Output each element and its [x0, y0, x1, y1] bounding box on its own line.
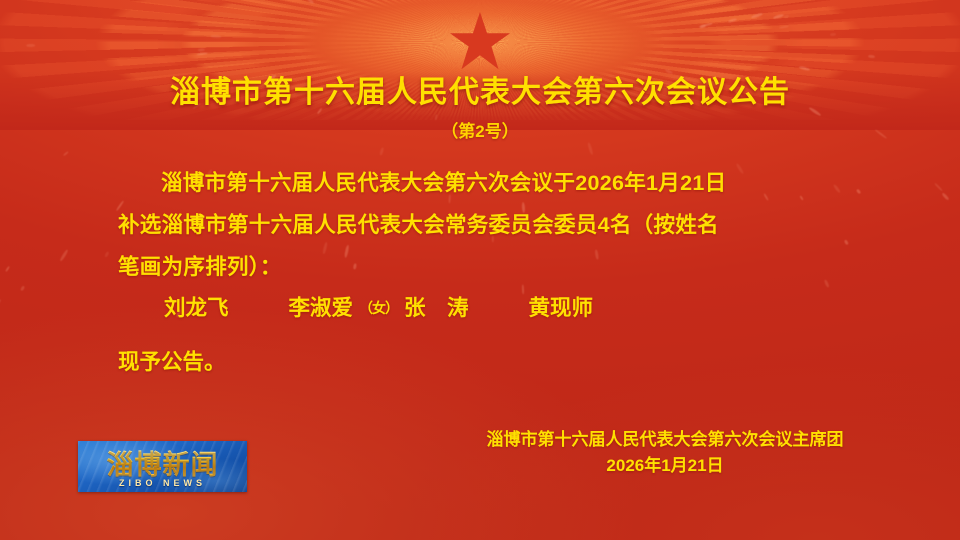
signature-block: 淄博市第十六届人民代表大会第六次会议主席团 2026年1月21日 [430, 427, 900, 479]
member-name: 张 涛 [404, 291, 469, 322]
signature-issuer: 淄博市第十六届人民代表大会第六次会议主席团 [430, 427, 900, 453]
background-speck [868, 54, 875, 58]
document-number: （第2号） [0, 117, 960, 142]
body-line-1: 淄博市第十六届人民代表大会第六次会议于2026年1月21日 [118, 162, 848, 204]
body-line-3: 笔画为序排列）： [118, 246, 848, 288]
member-gender-note: （女） [359, 300, 398, 316]
signature-date: 2026年1月21日 [430, 453, 900, 479]
background-speck [26, 43, 35, 46]
closing-statement: 现予公告。 [118, 345, 226, 376]
elected-members-list: 刘龙飞 李淑爱 （女） 张 涛 黄现师 [118, 291, 848, 322]
background-speck [198, 47, 205, 51]
body-line-2: 补选淄博市第十六届人民代表大会常务委员会委员4名（按姓名 [118, 204, 848, 246]
announcement-body: 淄博市第十六届人民代表大会第六次会议于2026年1月21日 补选淄博市第十六届人… [118, 162, 848, 288]
logo-title-cn: 淄博新闻 [78, 443, 247, 482]
member-name: 李淑爱 [288, 291, 353, 322]
announcement-screen: 淄博市第十六届人民代表大会第六次会议公告 （第2号） 淄博市第十六届人民代表大会… [0, 0, 960, 540]
member-name: 黄现师 [528, 291, 593, 322]
member-name: 刘龙飞 [164, 291, 229, 322]
page-title: 淄博市第十六届人民代表大会第六次会议公告 [0, 67, 960, 111]
logo-title-en: ZIBO NEWS [78, 478, 247, 488]
channel-logo: 淄博新闻 ZIBO NEWS [78, 441, 247, 492]
